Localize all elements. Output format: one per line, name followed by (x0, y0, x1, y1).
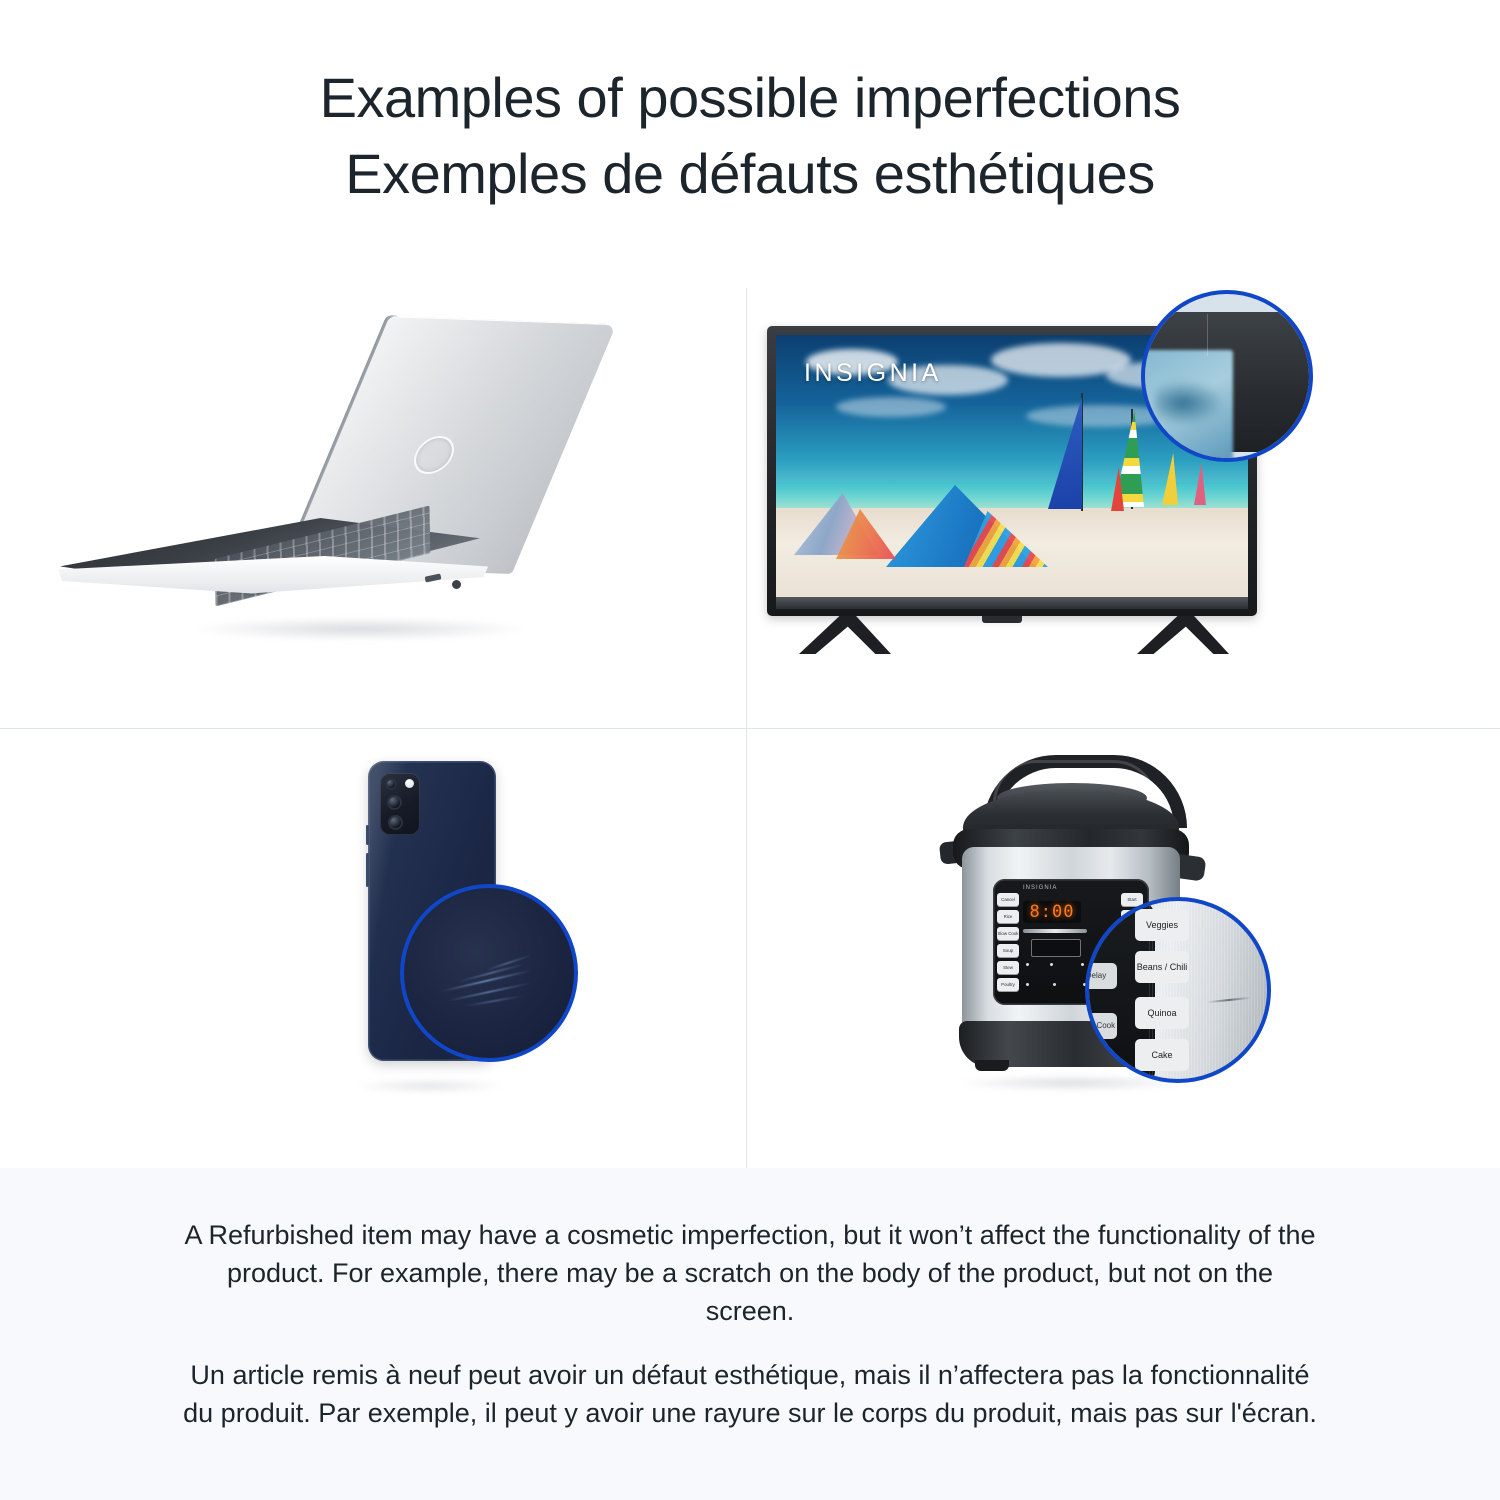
cooker-button[interactable]: Slow Cook (997, 927, 1019, 940)
pressure-cooker-panel: INSIGNIA 8:00 Cancel Rice Slow Cook Soup… (747, 729, 1493, 1169)
tv-cloud (836, 397, 946, 417)
phone-flash-icon (405, 779, 414, 788)
cooker-magnified-button[interactable]: Beans / Chili (1135, 951, 1189, 983)
footer-paragraph-english: A Refurbished item may have a cosmetic i… (180, 1216, 1320, 1330)
footer-disclaimer: A Refurbished item may have a cosmetic i… (0, 1168, 1500, 1500)
tv-magnifier-circle (1141, 290, 1313, 462)
cooker-sub-display (1031, 939, 1081, 957)
phone-volume-button[interactable] (366, 825, 369, 845)
phone-shadow (355, 1079, 505, 1093)
pressure-cooker-illustration: INSIGNIA 8:00 Cancel Rice Slow Cook Soup… (747, 729, 1493, 1169)
phone-camera-lens (387, 795, 402, 810)
cooker-timer-display: 8:00 (1023, 901, 1081, 923)
cooker-indicator-dot (1081, 963, 1084, 966)
phone-camera-module (380, 773, 420, 835)
phone-power-button[interactable] (366, 853, 369, 887)
cooker-magnified-button[interactable]: Veggies (1135, 909, 1189, 941)
cooker-magnified-ghost-button[interactable]: Slow Cook (1085, 1013, 1117, 1039)
cooker-button[interactable]: Rice (997, 910, 1019, 923)
laptop-panel (0, 288, 746, 728)
tv-magnified-screen-blur (1155, 380, 1225, 426)
cooker-pressure-bar (1023, 929, 1087, 933)
refurbished-imperfections-infographic: Examples of possible imperfections Exemp… (0, 0, 1500, 1500)
cooker-indicator-dot (1050, 963, 1053, 966)
tv-brand-logo: INSIGNIA (804, 359, 942, 388)
phone-illustration (0, 729, 746, 1169)
tv-panel: INSIGNIA (747, 288, 1493, 728)
cooker-button[interactable]: Soup (997, 944, 1019, 957)
page-title-french: Exemples de défauts esthétiques (0, 136, 1500, 212)
cooker-magnified-button[interactable]: Cake (1135, 1039, 1189, 1071)
phone-camera-lens (385, 778, 397, 790)
tv-leg-right (1137, 616, 1229, 654)
cooker-brand-logo: INSIGNIA (1023, 885, 1057, 891)
cooker-magnified-ghost-button[interactable]: Delay (1085, 963, 1117, 989)
cooker-button[interactable]: Cancel (997, 893, 1019, 906)
phone-scratch-mark (464, 995, 523, 1007)
cooker-magnified-button[interactable]: Quinoa (1135, 997, 1189, 1029)
examples-grid: INSIGNIA (0, 288, 1500, 1168)
footer-paragraph-french: Un article remis à neuf peut avoir un dé… (180, 1356, 1320, 1432)
tv-bottom-bezel (776, 597, 1248, 609)
phone-camera-lens (388, 815, 403, 830)
page-title: Examples of possible imperfections Exemp… (0, 60, 1500, 212)
tv-front-badge-icon (982, 616, 1022, 623)
tv-magnified-bezel-seam (1207, 314, 1208, 356)
footer-text-block: A Refurbished item may have a cosmetic i… (180, 1216, 1320, 1432)
laptop-audio-port-icon (452, 580, 461, 589)
page-title-english: Examples of possible imperfections (0, 60, 1500, 136)
cooker-button[interactable]: Stew (997, 961, 1019, 974)
laptop-shadow (195, 618, 525, 640)
cooker-magnifier-circle: Veggies Beans / Chili Quinoa Cake Delay … (1085, 897, 1271, 1083)
phone-panel (0, 729, 746, 1169)
tv-leg-left (799, 616, 891, 654)
cooker-button[interactable]: Poultry (997, 978, 1019, 991)
cooker-foot-left (975, 1060, 1009, 1071)
tv-illustration: INSIGNIA (747, 288, 1493, 728)
cooker-indicator-dot (1026, 963, 1029, 966)
cooker-button-column-left[interactable]: Cancel Rice Slow Cook Soup Stew Poultry (997, 893, 1019, 995)
cooker-indicator-dot (1053, 983, 1056, 986)
phone-magnifier-circle (400, 884, 578, 1062)
laptop-illustration (0, 288, 746, 728)
cooker-indicator-dot (1026, 983, 1029, 986)
